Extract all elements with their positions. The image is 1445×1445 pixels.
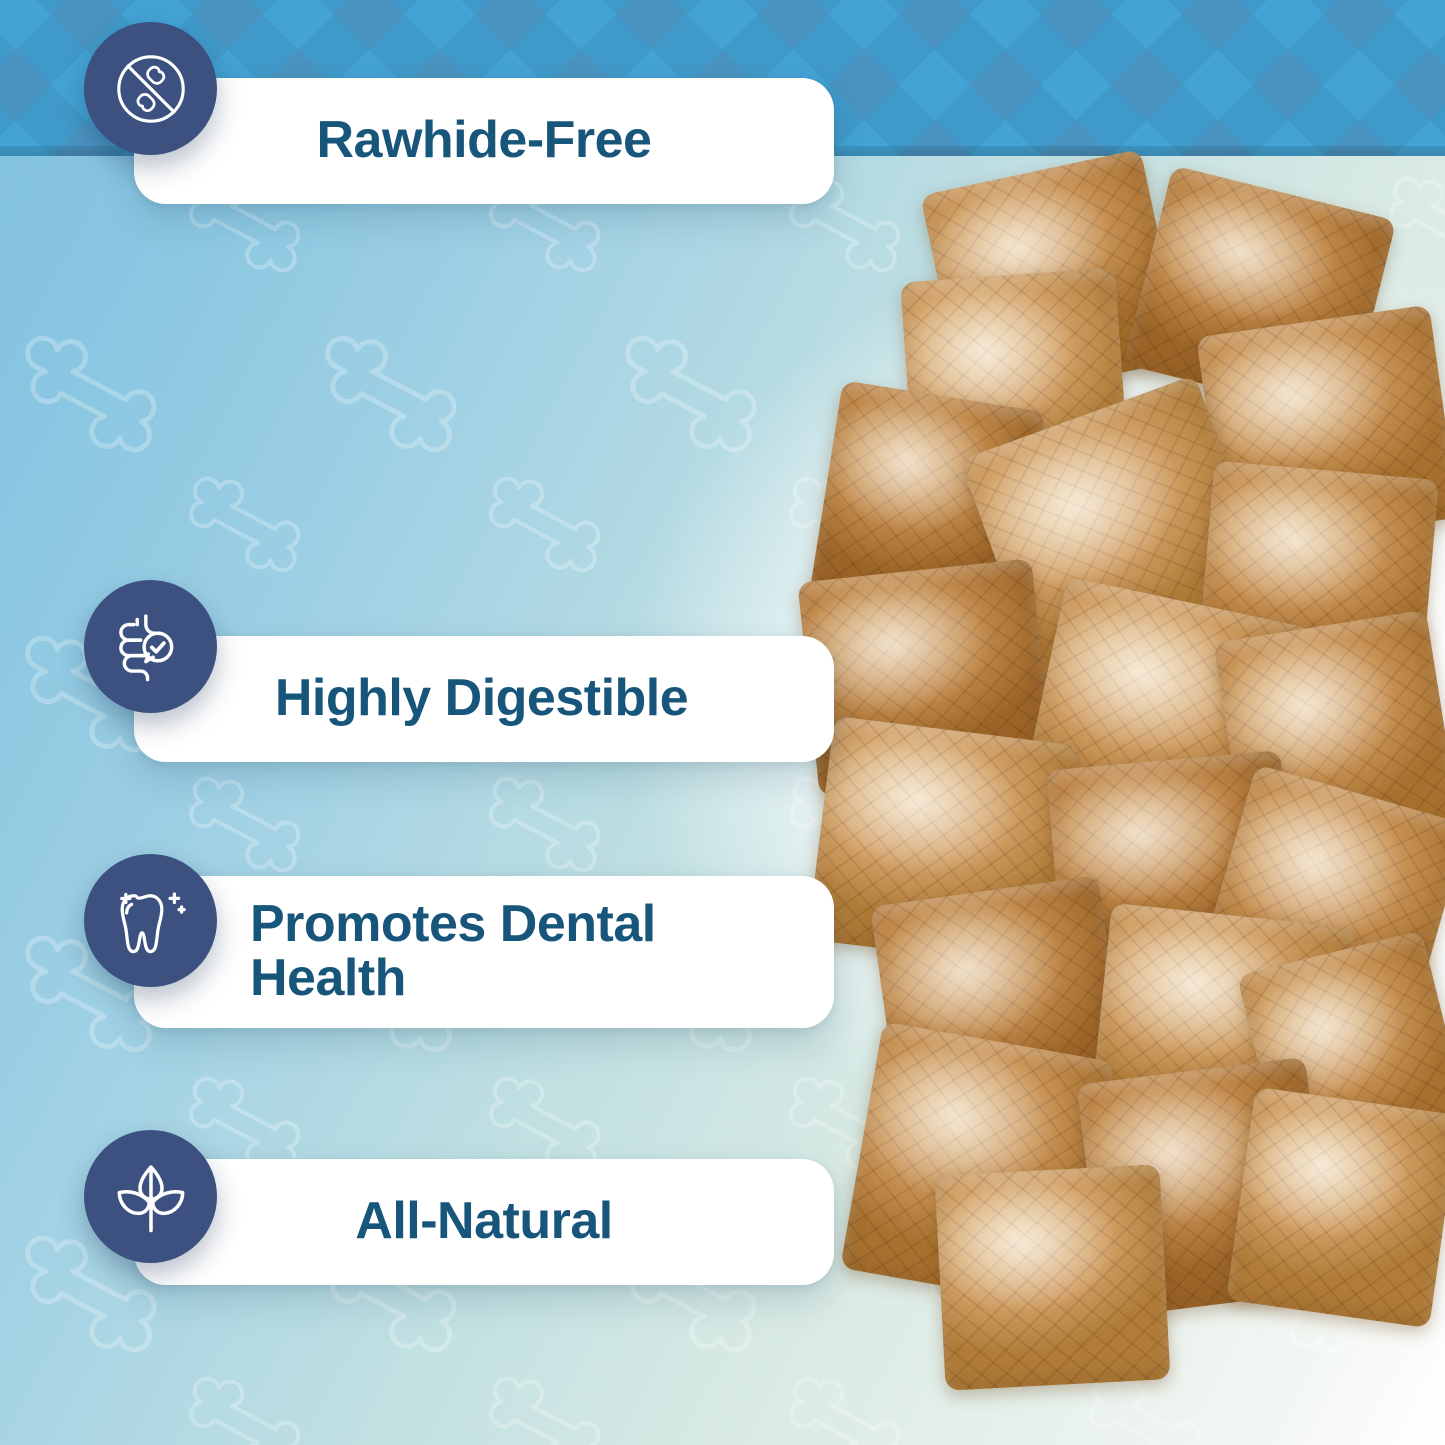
feature-icon-badge[interactable] xyxy=(84,580,217,713)
feature-label: Rawhide-Free xyxy=(134,78,834,204)
feature-icon-badge[interactable] xyxy=(84,854,217,987)
sparkling-tooth-icon xyxy=(106,876,196,966)
feature-label: Highly Digestible xyxy=(129,636,834,762)
feature-icon-badge[interactable] xyxy=(84,1130,217,1263)
digestive-system-check-icon xyxy=(108,604,194,690)
leaf-sprout-icon xyxy=(107,1153,195,1241)
chew-chip xyxy=(1226,1087,1445,1328)
infographic-stage: Rawhide-Free Highly Digestible xyxy=(0,0,1445,1445)
feature-label: Promotes DentalHealth xyxy=(250,876,834,1028)
feature-icon-badge[interactable] xyxy=(84,22,217,155)
feature-label: All-Natural xyxy=(134,1159,834,1285)
product-photo-chew-chips xyxy=(790,170,1445,1395)
chew-chip xyxy=(935,1164,1171,1390)
no-rawhide-icon xyxy=(105,43,197,135)
